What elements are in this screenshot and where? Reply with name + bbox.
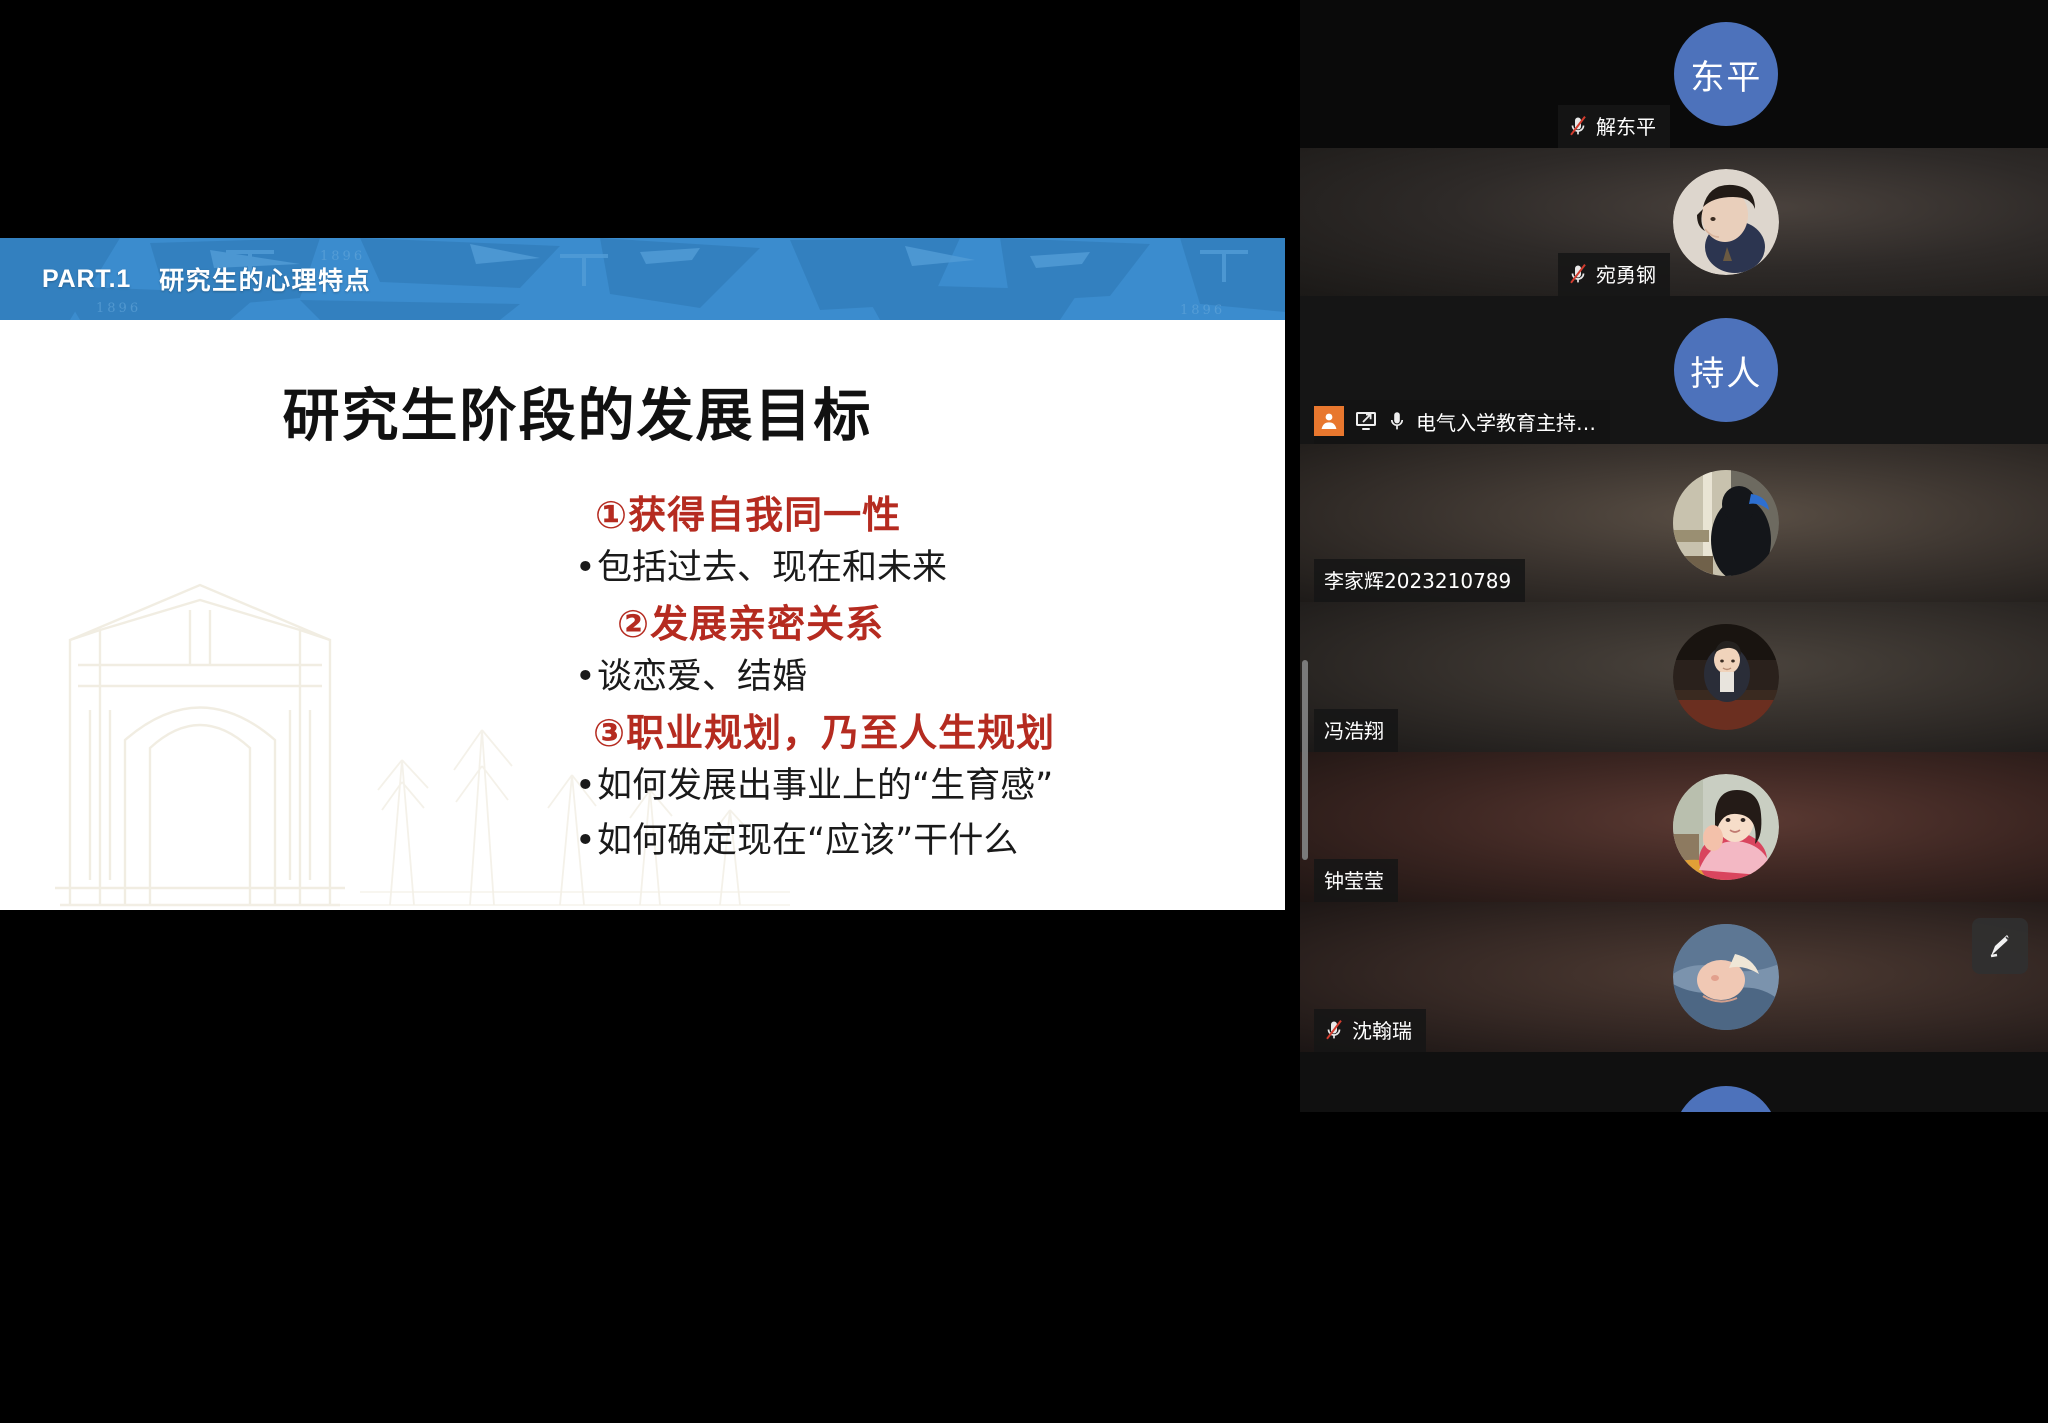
shared-screen-region[interactable]: 1896 1896 1896 PART.1 研究生的心理特点 [0,0,1300,1423]
microphone-muted-icon [1324,1019,1344,1041]
slide-section-title: 研究生的心理特点 [159,261,371,297]
screen-share-icon [1354,410,1378,432]
slide-banner: 1896 1896 1896 PART.1 研究生的心理特点 [0,238,1285,320]
slide-bullet-2-1: •谈恋爱、结婚 [575,655,1275,701]
participant-tile[interactable]: 冯浩翔 [1300,602,2048,752]
participant-nameplate: 解东平 [1558,105,1670,148]
participant-tile-host[interactable]: 持人 [1300,296,2048,444]
slide-heading-2: ②发展亲密关系 [617,601,1275,649]
avatar: 东平 [1674,22,1778,126]
slide-bullet-text: 谈恋爱、结婚 [597,657,807,697]
participant-tile-partial[interactable] [1300,1052,2048,1112]
slide-body: 研究生阶段的发展目标 ①获得自我同一性 •包括过去、现在和未来 ②发展亲密关系 … [0,320,1285,910]
slide-bullet-3-1: •如何发展出事业上的“生育感” [575,764,1275,810]
participant-name: 钟莹莹 [1324,865,1384,894]
participant-nameplate: 冯浩翔 [1314,709,1398,752]
participant-rail[interactable]: 东平 解东平 [1300,0,2048,1423]
conference-window: 1896 1896 1896 PART.1 研究生的心理特点 [0,0,2048,1423]
participant-nameplate: 钟莹莹 [1314,859,1398,902]
participant-tile[interactable]: 东平 解东平 [1300,0,2048,148]
participant-name: 宛勇钢 [1596,259,1656,288]
slide-title: 研究生阶段的发展目标 [0,370,1155,452]
annotate-pencil-icon [1985,931,2015,961]
avatar [1673,624,1779,730]
participant-name: 冯浩翔 [1324,715,1384,744]
slide-bullet-text: 如何发展出事业上的“生育感” [597,766,1053,806]
slide-bullet-text: 包括过去、现在和未来 [597,548,947,588]
avatar [1673,774,1779,880]
participant-rail-scrollbar[interactable] [1302,660,1308,860]
tile-background [1300,1052,2048,1112]
slide-heading-3: ③职业规划，乃至人生规划 [593,710,1275,758]
avatar [1673,169,1779,275]
avatar-initials: 持人 [1690,346,1762,395]
participant-nameplate: 宛勇钢 [1558,253,1670,296]
bullet-dot-icon: • [575,655,597,701]
participant-nameplate: 电气入学教育主持… [1314,400,1610,444]
bullet-dot-icon: • [575,819,597,865]
avatar [1673,924,1779,1030]
slide-heading-1: ①获得自我同一性 [595,492,1275,540]
bullet-dot-icon: • [575,764,597,810]
participant-nameplate: 李家辉2023210789 [1314,559,1525,602]
participant-tile[interactable]: 宛勇钢 [1300,148,2048,296]
microphone-muted-icon [1568,263,1588,285]
participant-name: 电气入学教育主持… [1416,407,1596,436]
annotate-pencil-button[interactable] [1972,918,2028,974]
avatar [1673,470,1779,576]
participant-tile[interactable]: 沈翰瑞 [1300,902,2048,1052]
presentation-slide: 1896 1896 1896 PART.1 研究生的心理特点 [0,238,1285,910]
host-person-icon [1314,406,1344,436]
slide-bullet-list: ①获得自我同一性 •包括过去、现在和未来 ②发展亲密关系 •谈恋爱、结婚 ③职业… [575,492,1275,875]
slide-bullet-3-2: •如何确定现在“应该”干什么 [575,819,1275,865]
microphone-muted-icon [1568,115,1588,137]
participant-nameplate: 沈翰瑞 [1314,1009,1426,1052]
participant-name: 解东平 [1596,111,1656,140]
slide-bullet-text: 如何确定现在“应该”干什么 [597,821,1018,861]
participant-name: 沈翰瑞 [1352,1015,1412,1044]
participant-tile[interactable]: 钟莹莹 [1300,752,2048,902]
bullet-dot-icon: • [575,546,597,592]
participant-name: 李家辉2023210789 [1324,565,1511,594]
avatar: 持人 [1674,318,1778,422]
microphone-icon [1388,410,1406,432]
slide-part-label: PART.1 [42,265,131,294]
participant-tile[interactable]: 李家辉2023210789 [1300,444,2048,602]
avatar-initials: 东平 [1690,50,1762,99]
slide-bullet-1-1: •包括过去、现在和未来 [575,546,1275,592]
